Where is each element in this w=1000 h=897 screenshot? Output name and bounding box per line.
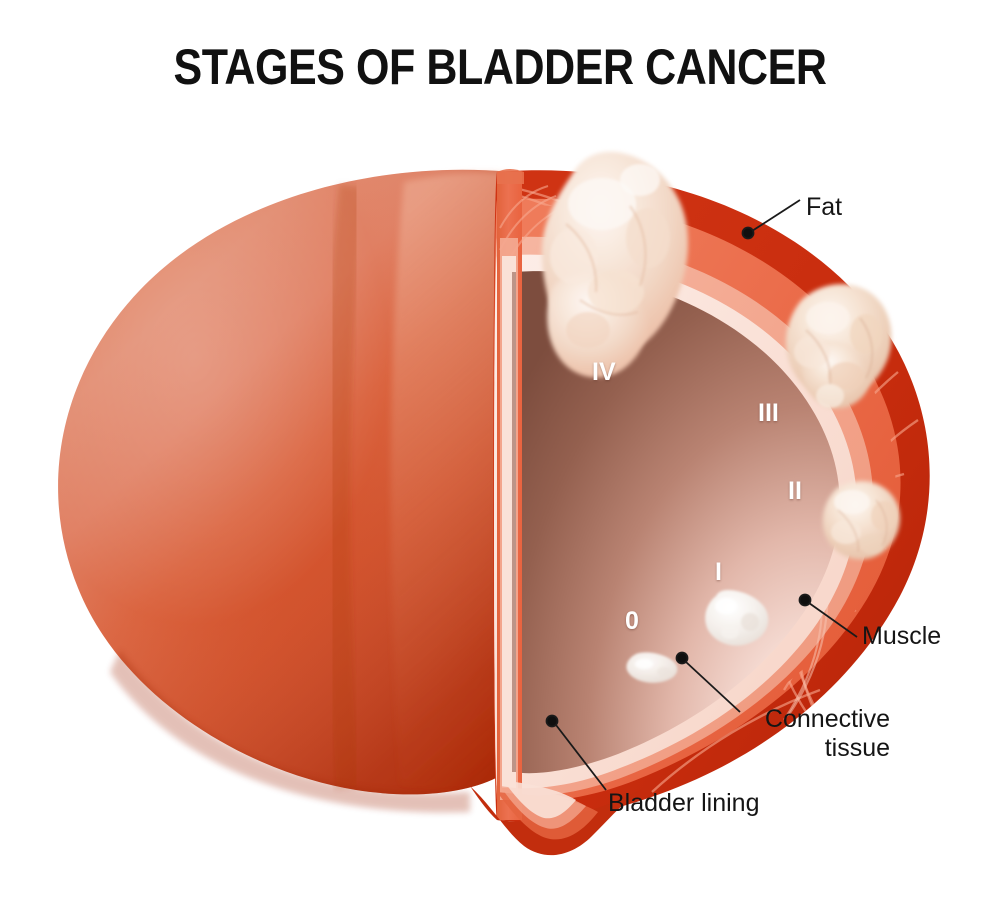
- callout-dot-bladder-lining: [547, 716, 558, 727]
- callout-label-fat: Fat: [806, 193, 842, 222]
- bladder-cross-section-diagram: [0, 0, 1000, 897]
- stage-numeral-I: I: [715, 558, 722, 587]
- stage-numeral-IV: IV: [592, 358, 616, 387]
- callout-label-muscle: Muscle: [862, 622, 941, 651]
- diagram-page: STAGES OF BLADDER CANCER: [0, 0, 1000, 897]
- callout-dot-connective-tissue: [677, 653, 688, 664]
- callout-dot-muscle: [800, 595, 811, 606]
- bladder-body: [58, 170, 512, 813]
- stage-numeral-III: III: [758, 399, 779, 428]
- stage-numeral-II: II: [788, 477, 802, 506]
- stage-numeral-0: 0: [625, 607, 639, 636]
- callout-line-fat: [752, 200, 800, 231]
- callout-label-connective-tissue: Connective tissue: [744, 705, 890, 762]
- callout-dot-fat: [743, 228, 754, 239]
- callout-label-bladder-lining: Bladder lining: [608, 789, 760, 818]
